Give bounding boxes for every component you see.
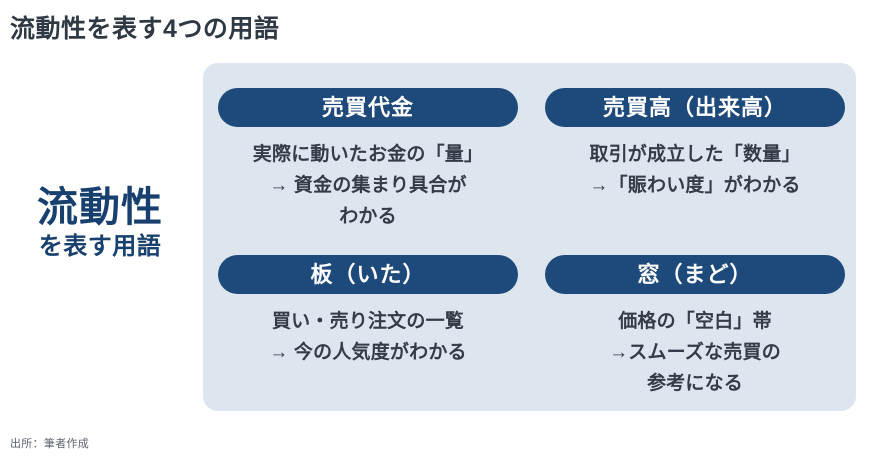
- card-ita: 板（いた） 買い・売り注文の一覧 → 今の人気度がわかる: [218, 255, 518, 368]
- card-body-text: 買い・売り注文の一覧 → 今の人気度がわかる: [218, 306, 518, 368]
- card-heading-pill: 売買代金: [218, 88, 518, 127]
- card-heading-pill: 窓（まど）: [545, 255, 845, 294]
- card-heading-pill: 売買高（出来高）: [545, 88, 845, 127]
- card-body-text: 取引が成立した「数量」 →「賑わい度」がわかる: [545, 139, 845, 201]
- page-title: 流動性を表す4つの用語: [10, 9, 279, 45]
- card-body-text: 実際に動いたお金の「量」 → 資金の集まり具合が わかる: [218, 139, 518, 232]
- infographic-figure: 流動性を表す4つの用語 流動性 を表す用語 売買代金 実際に動いたお金の「量」 …: [0, 0, 870, 468]
- card-baibai-daikin: 売買代金 実際に動いたお金の「量」 → 資金の集まり具合が わかる: [218, 88, 518, 232]
- source-note: 出所：筆者作成: [10, 435, 89, 451]
- side-label-secondary: を表す用語: [0, 231, 200, 263]
- card-heading-pill: 板（いた）: [218, 255, 518, 294]
- side-label: 流動性 を表す用語: [0, 183, 200, 263]
- side-label-primary: 流動性: [0, 183, 200, 231]
- terms-panel: 売買代金 実際に動いたお金の「量」 → 資金の集まり具合が わかる 売買高（出来…: [203, 63, 856, 411]
- card-mado: 窓（まど） 価格の「空白」帯 →スムーズな売買の 参考になる: [545, 255, 845, 399]
- card-baibai-daka: 売買高（出来高） 取引が成立した「数量」 →「賑わい度」がわかる: [545, 88, 845, 201]
- card-body-text: 価格の「空白」帯 →スムーズな売買の 参考になる: [545, 306, 845, 399]
